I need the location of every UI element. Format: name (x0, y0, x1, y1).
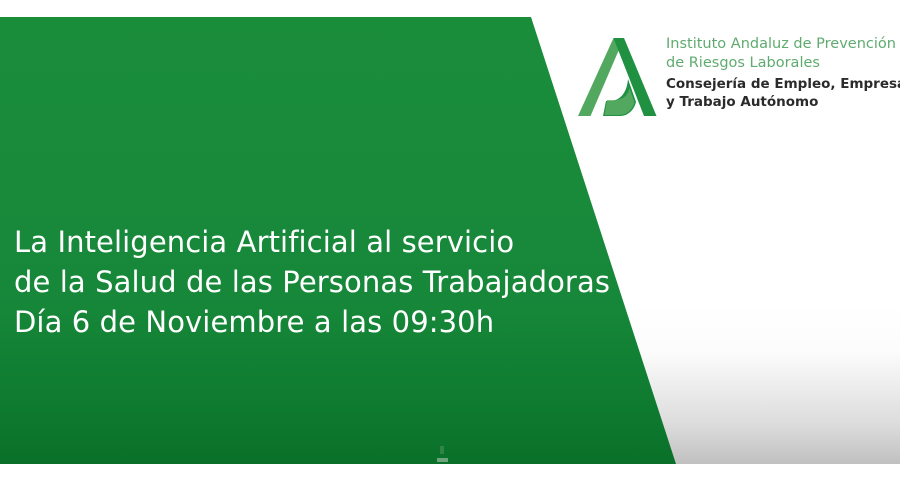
video-slide: La Inteligencia Artificial al servicio d… (0, 0, 900, 482)
logo-subtitle-line-2: y Trabajo Autónomo (666, 93, 900, 111)
headline-line-3: Día 6 de Noviembre a las 09:30h (14, 302, 610, 342)
player-control-artifact (437, 458, 448, 462)
headline-line-1: La Inteligencia Artificial al servicio (14, 222, 610, 262)
logo-title-line-2: de Riesgos Laborales (666, 54, 900, 73)
junta-de-andalucia-a-logo-icon (576, 36, 660, 118)
letterbox-bottom (0, 464, 900, 482)
headline-line-2: de la Salud de las Personas Trabajadoras (14, 262, 610, 302)
logo-title-line-1: Instituto Andaluz de Prevención (666, 35, 900, 54)
headline: La Inteligencia Artificial al servicio d… (14, 222, 610, 342)
institutional-logo: Instituto Andaluz de Prevención de Riesg… (576, 19, 894, 121)
logo-subtitle-line-1: Consejería de Empleo, Empresa (666, 75, 900, 93)
letterbox-top (0, 0, 900, 17)
logo-text-block: Instituto Andaluz de Prevención de Riesg… (666, 19, 900, 111)
player-control-artifact-dot (440, 446, 444, 454)
